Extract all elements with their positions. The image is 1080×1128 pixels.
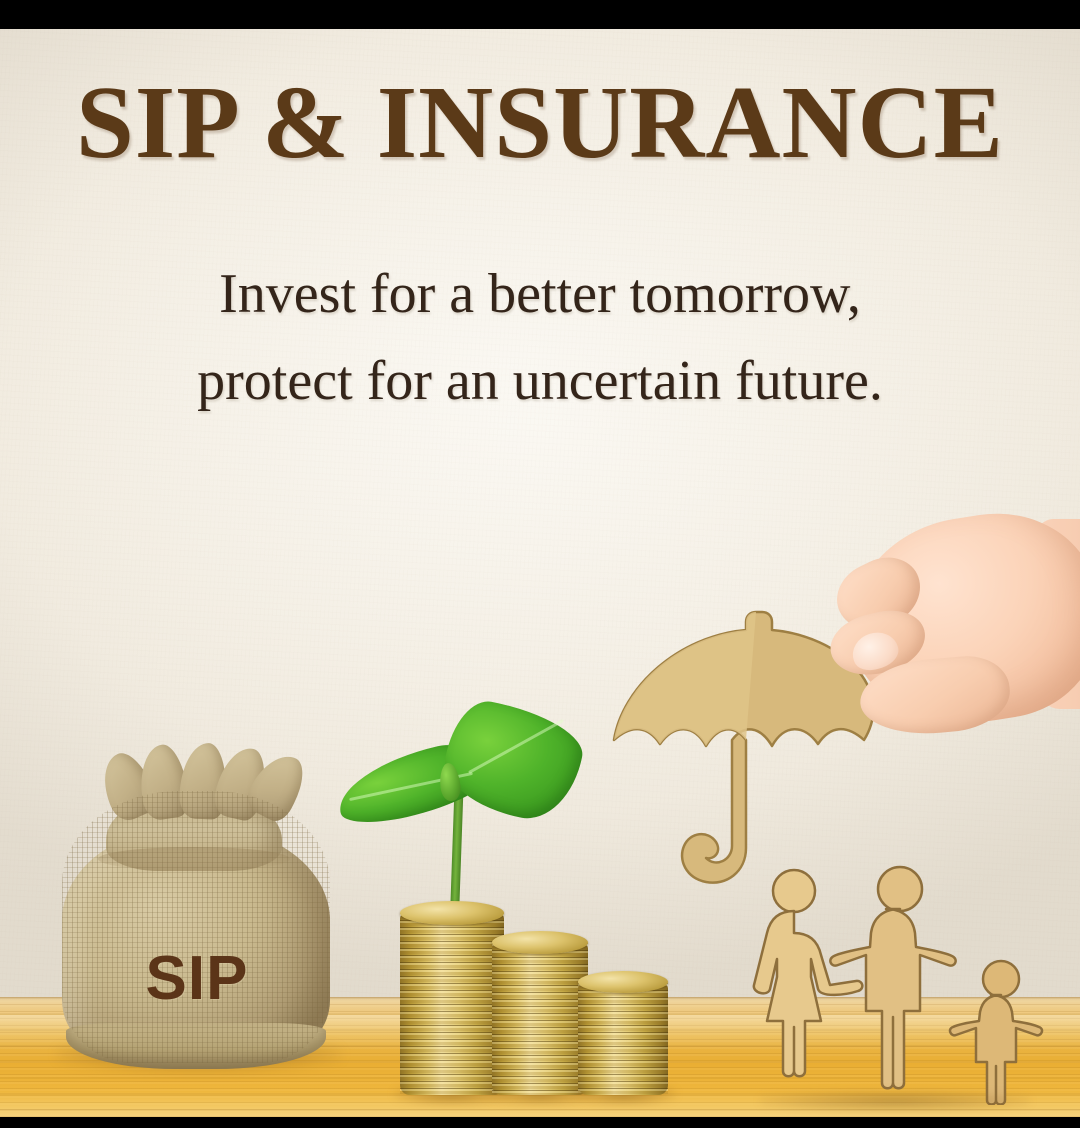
- burlap-weave-texture: [62, 791, 330, 1063]
- coin-stack-top: [400, 901, 504, 925]
- poster-scene: SIP & INSURANCE Invest for a better tomo…: [0, 29, 1080, 1117]
- coin-edge-ridges: [400, 913, 504, 1095]
- wooden-family-cutouts: [748, 865, 1048, 1105]
- poster-image: SIP & INSURANCE Invest for a better tomo…: [0, 0, 1080, 1128]
- letterbox-bar-top: [0, 0, 1080, 29]
- green-seedling-plant: [330, 701, 590, 923]
- coin-stack-body: [492, 943, 588, 1095]
- tall-coin-stack: [400, 901, 504, 1095]
- coin-edge-ridges: [578, 983, 668, 1095]
- coin-edge-ridges: [492, 943, 588, 1095]
- subtitle-line-2: protect for an uncertain future.: [0, 338, 1080, 425]
- hand-holding-umbrella: [810, 509, 1080, 769]
- money-bag-label: SIP: [52, 943, 342, 1014]
- medium-coin-stack: [492, 931, 588, 1095]
- family-figures-shape: [748, 865, 1048, 1105]
- wooden-figure-father: [830, 867, 955, 1088]
- family-shadow: [760, 1091, 1030, 1111]
- coin-stack-top: [492, 931, 588, 954]
- short-coin-stack: [578, 971, 668, 1095]
- coin-stack-top: [578, 971, 668, 993]
- coin-stack-body: [578, 983, 668, 1095]
- letterbox-bar-bottom: [0, 1117, 1080, 1128]
- coin-stack-body: [400, 913, 504, 1095]
- page-subtitle: Invest for a better tomorrow, protect fo…: [0, 251, 1080, 425]
- wooden-figure-child: [950, 961, 1042, 1105]
- subtitle-line-1: Invest for a better tomorrow,: [219, 263, 861, 325]
- wooden-figure-mother: [754, 870, 863, 1076]
- burlap-money-bag: SIP: [52, 751, 342, 1081]
- page-title: SIP & INSURANCE: [0, 65, 1080, 181]
